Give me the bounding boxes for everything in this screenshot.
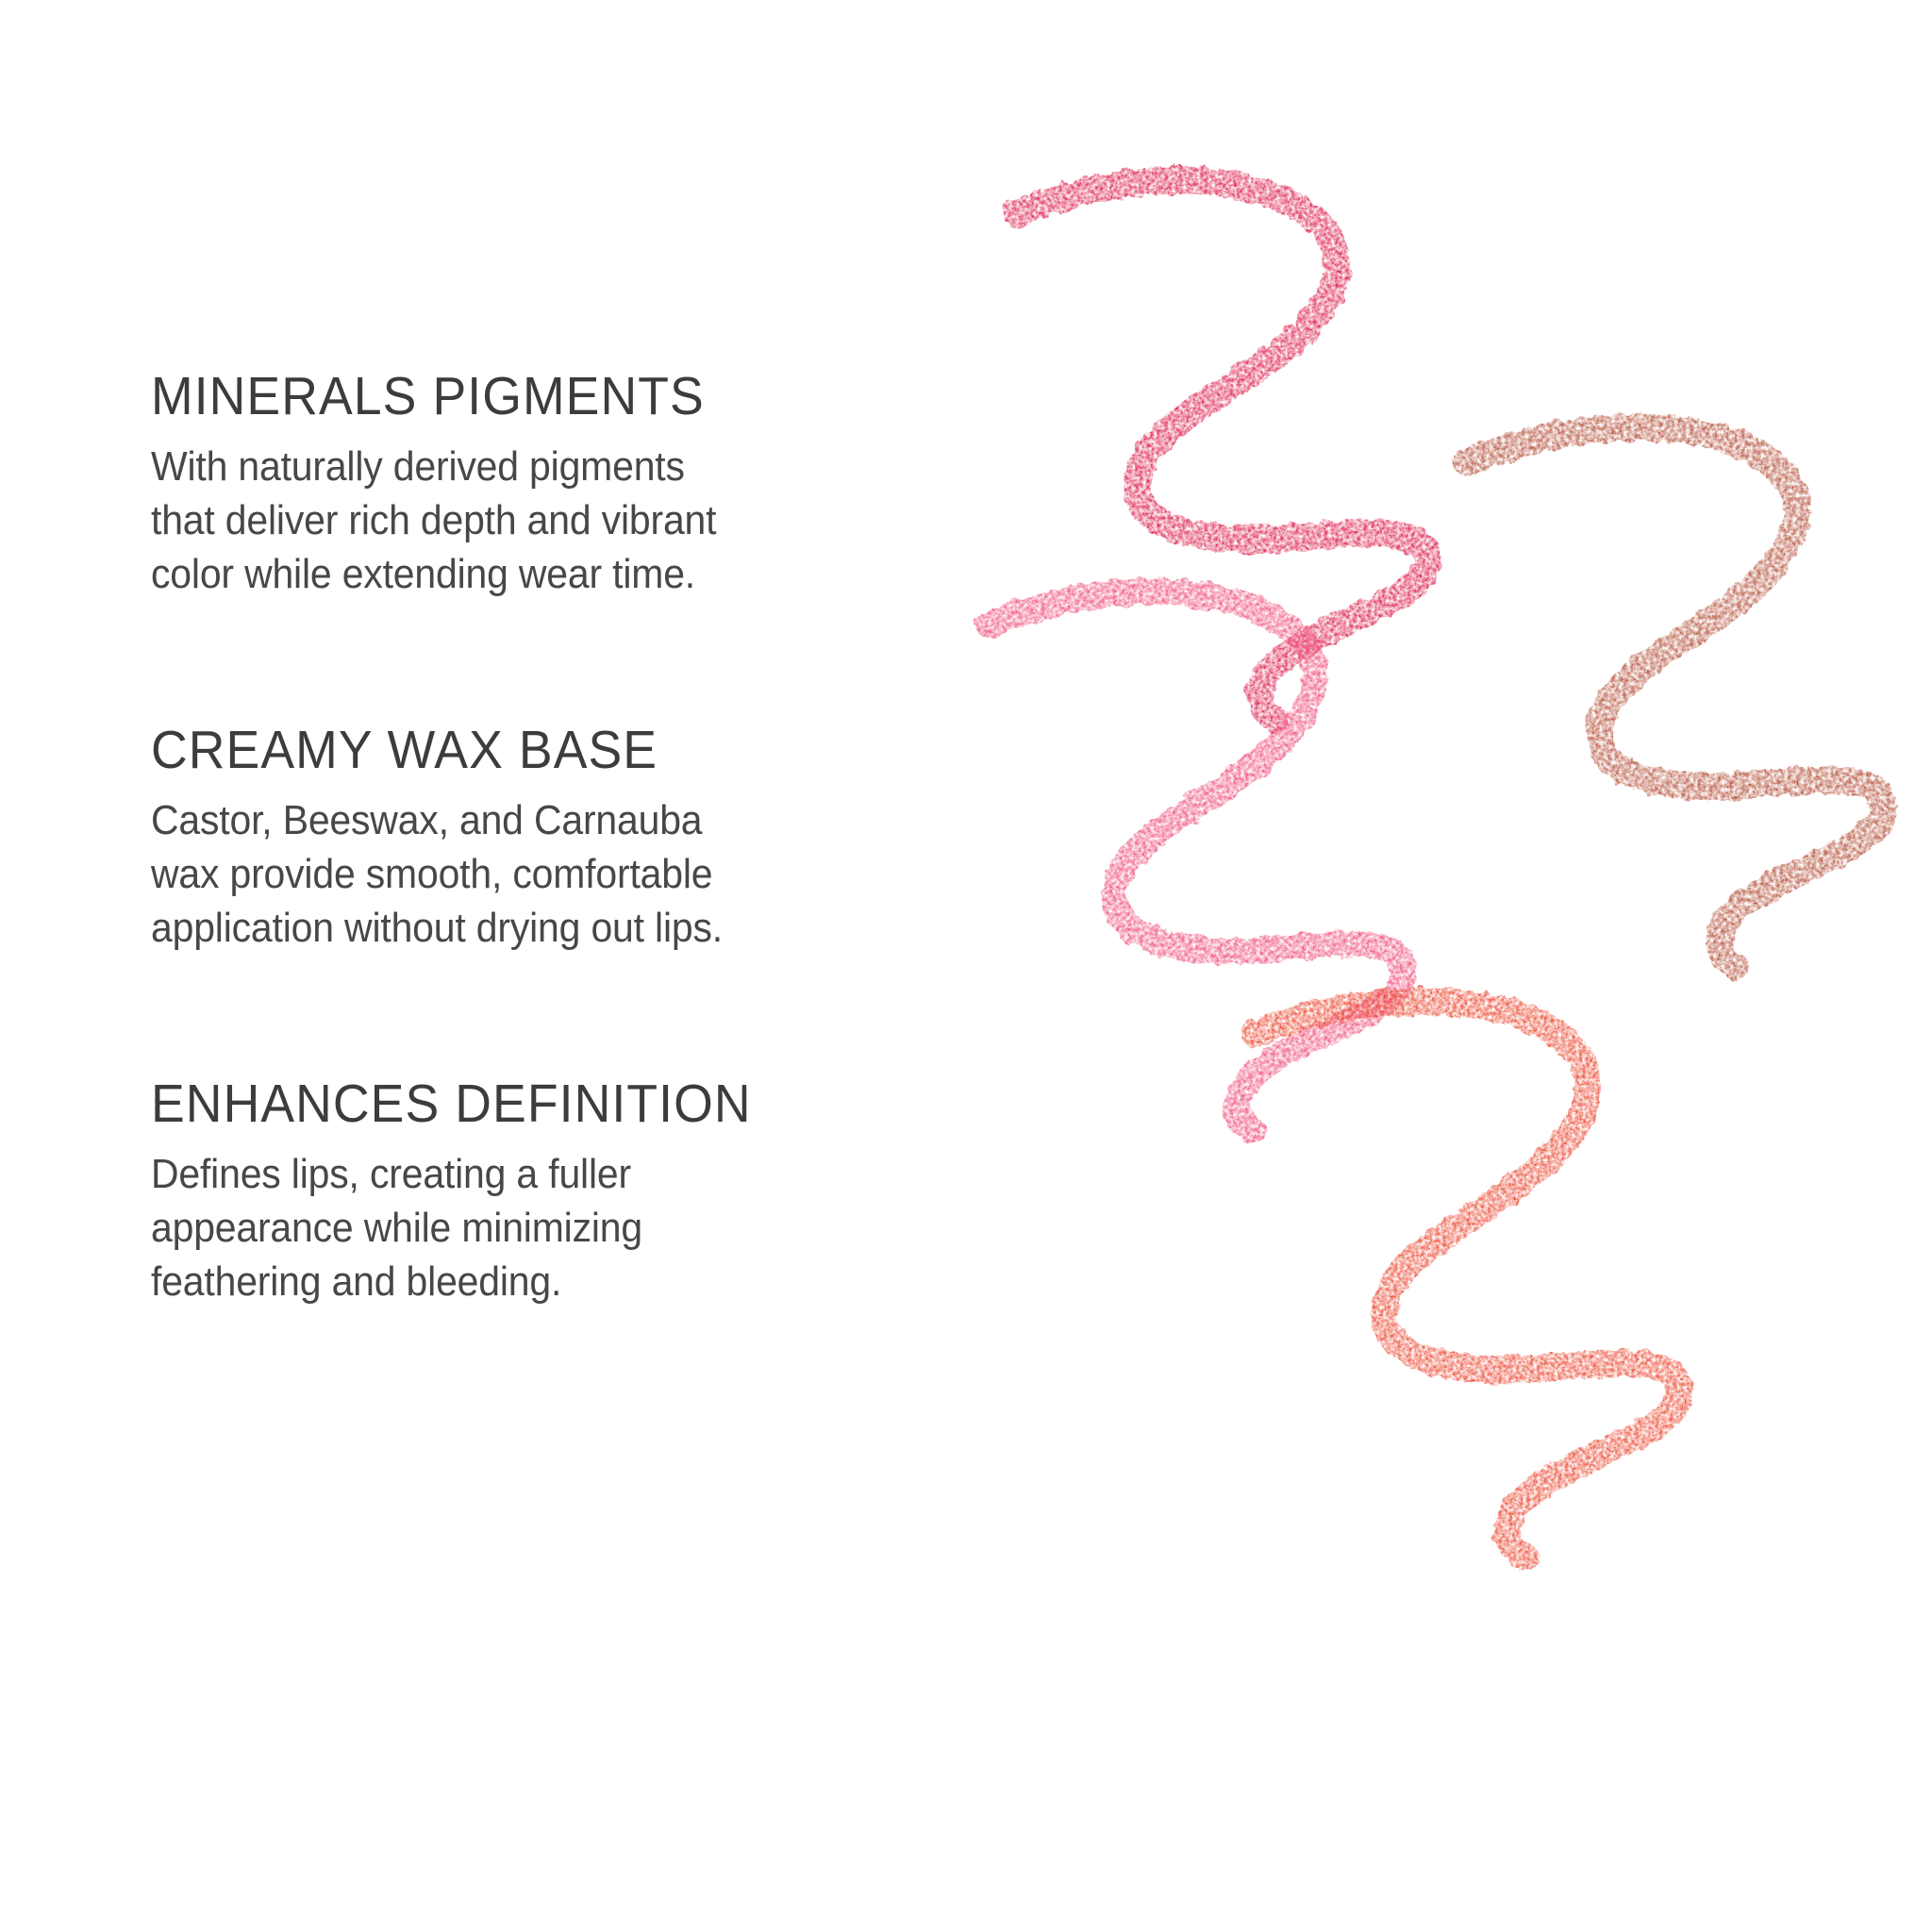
swatch-svg [943,132,1915,1774]
feature-body-enhances-definition: Defines lips, creating a fuller appearan… [151,1147,757,1309]
infographic-page: MINERALS PIGMENTS With naturally derived… [0,0,1932,1932]
feature-list: MINERALS PIGMENTS With naturally derived… [151,368,924,1308]
feature-heading-enhances-definition: ENHANCES DEFINITION [151,1075,878,1134]
coral-swatch-stroke [1255,1001,1679,1557]
swatch-cluster [943,132,1915,1774]
feature-body-creamy-wax-base: Castor, Beeswax, and Carnauba wax provid… [151,793,757,956]
terracotta-swatch-stroke [1468,427,1883,966]
crimson-swatch-stroke [1017,180,1426,719]
feature-heading-creamy-wax-base: CREAMY WAX BASE [151,722,878,780]
feature-heading-minerals-pigments: MINERALS PIGMENTS [151,368,878,426]
feature-body-minerals-pigments: With naturally derived pigments that del… [151,440,757,602]
feature-block-minerals-pigments: MINERALS PIGMENTS With naturally derived… [151,368,924,601]
pink-swatch-stroke [989,591,1404,1130]
feature-block-enhances-definition: ENHANCES DEFINITION Defines lips, creati… [151,1075,924,1308]
feature-block-creamy-wax-base: CREAMY WAX BASE Castor, Beeswax, and Car… [151,722,924,955]
